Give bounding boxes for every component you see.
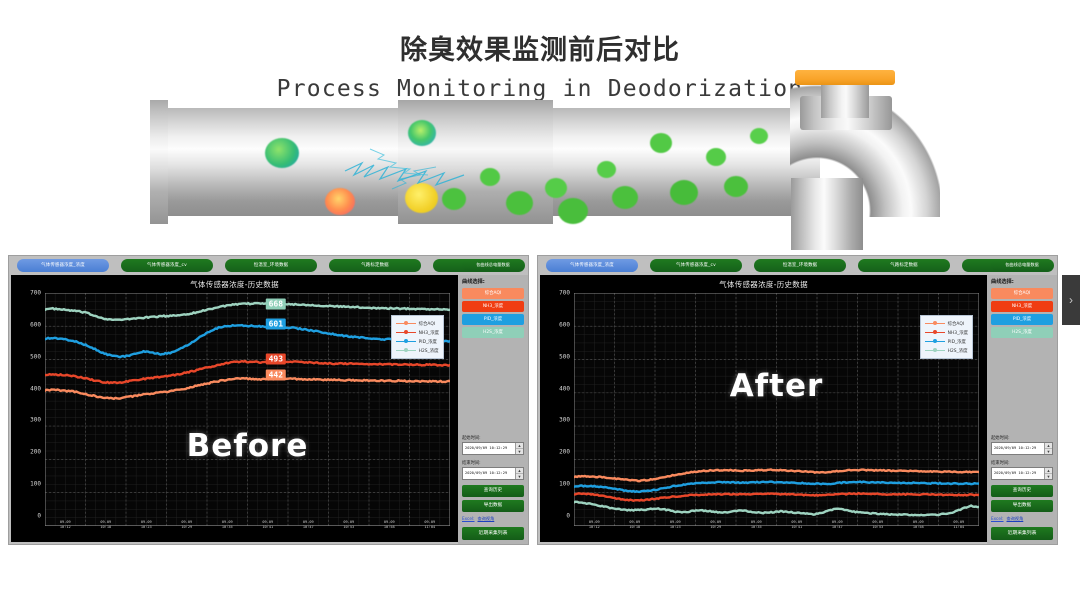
scroll-right-button[interactable]: › xyxy=(1062,275,1080,325)
x-tick: 09-0910:35 xyxy=(751,520,762,530)
chart-before: 气体传感器浓度-历史数据 0100200300400500600700 09-0… xyxy=(11,275,458,542)
series-lines xyxy=(574,293,979,526)
clean-blob xyxy=(506,191,533,215)
excel-link-prefix[interactable]: Excel: xyxy=(991,516,1004,521)
clean-blob xyxy=(545,178,567,198)
start-time-field[interactable]: 2020/09/09 10:12:29 ▲▼ xyxy=(991,442,1053,455)
legend-swatch-pid xyxy=(925,341,945,343)
legend-item[interactable]: NH3_浓度 xyxy=(925,328,968,337)
legend-item[interactable]: PID_浓度 xyxy=(396,337,439,346)
overlay-word-after: After xyxy=(730,368,824,404)
query-history-button[interactable]: 查询历史 xyxy=(462,485,524,497)
x-tick: 09-0910:53 xyxy=(343,520,354,530)
y-tick: 200 xyxy=(559,449,570,456)
clean-blob xyxy=(558,198,588,224)
y-tick: 600 xyxy=(559,321,570,328)
export-data-button[interactable]: 导出数据 xyxy=(462,500,524,512)
curve-toggle-h2s[interactable]: H2S_浓度 xyxy=(462,327,524,338)
legend-item[interactable]: H2S_浓度 xyxy=(396,346,439,355)
tab-calibration[interactable]: 气路标定数据 xyxy=(329,259,421,272)
legend-before: 综合AQI NH3_浓度 PID_浓度 H2S_浓度 xyxy=(391,315,444,359)
y-tick: 700 xyxy=(30,290,41,297)
excel-link-prefix[interactable]: Excel: xyxy=(462,516,475,521)
end-time-label: 结束时间: xyxy=(462,460,524,466)
chart-title: 气体传感器浓度-历史数据 xyxy=(540,279,987,290)
x-tick: 09-0910:23 xyxy=(670,520,681,530)
y-tick: 200 xyxy=(30,449,41,456)
y-tick: 400 xyxy=(30,385,41,392)
end-time-field[interactable]: 2020/09/09 10:12:29 ▲▼ xyxy=(462,467,524,480)
recent-collection-button[interactable]: 近期采集列表 xyxy=(991,527,1053,540)
x-tick: 09-0910:53 xyxy=(872,520,883,530)
chart-title: 气体传感器浓度-历史数据 xyxy=(11,279,458,290)
pipe-flange-left xyxy=(150,100,168,224)
query-history-button[interactable]: 查询历史 xyxy=(991,485,1053,497)
legend-label: 综合AQI xyxy=(419,321,435,327)
end-time-value: 2020/09/09 10:12:29 xyxy=(992,468,1044,479)
curve-toggle-nh3[interactable]: NH3_浓度 xyxy=(462,301,524,312)
export-data-button[interactable]: 导出数据 xyxy=(991,500,1053,512)
clean-blob xyxy=(597,161,616,178)
tab-calibration[interactable]: 气路标定数据 xyxy=(858,259,950,272)
legend-after: 综合AQI NH3_浓度 PID_浓度 H2S_浓度 xyxy=(920,315,973,359)
y-tick: 0 xyxy=(37,513,41,520)
tab-gas-cv[interactable]: 气体传感器浓度_cv xyxy=(121,259,213,272)
y-tick: 100 xyxy=(30,481,41,488)
tabbar-before: 气体传感器浓度_浓度 气体传感器浓度_cv 恒温室_环境数据 气路标定数据 电池… xyxy=(9,256,528,275)
x-tick: 09-0910:41 xyxy=(262,520,273,530)
tabbar-after: 气体传感器浓度_浓度 气体传感器浓度_cv 恒温室_环境数据 气路标定数据 电池… xyxy=(538,256,1057,275)
legend-label: PID_浓度 xyxy=(419,339,437,345)
legend-label: NH3_浓度 xyxy=(948,330,968,336)
x-tick: 09-0910:12 xyxy=(60,520,71,530)
header: 除臭效果监测前后对比 Process Monitoring in Deodori… xyxy=(0,0,1080,245)
plot-area-before: 0100200300400500600700 09-0910:1209-0910… xyxy=(45,293,450,516)
start-time-label: 起始时间: xyxy=(462,435,524,441)
legend-swatch-pid xyxy=(396,341,416,343)
plot-area-after: 0100200300400500600700 09-0910:1209-0910… xyxy=(574,293,979,516)
legend-swatch-aqi xyxy=(925,323,945,325)
legend-label: H2S_浓度 xyxy=(948,348,968,354)
odor-blob xyxy=(265,138,299,168)
excel-link-text[interactable]: 查询视角 xyxy=(478,516,495,521)
excel-link-text[interactable]: 查询视角 xyxy=(1007,516,1024,521)
end-time-label: 结束时间: xyxy=(991,460,1053,466)
x-tick: 09-0910:18 xyxy=(100,520,111,530)
clean-blob xyxy=(650,133,672,153)
tab-chamber-env[interactable]: 恒温室_环境数据 xyxy=(225,259,317,272)
curve-toggle-pid[interactable]: PID_浓度 xyxy=(462,314,524,325)
recent-collection-button[interactable]: 近期采集列表 xyxy=(462,527,524,540)
dashboard-before: 气体传感器浓度_浓度 气体传感器浓度_cv 恒温室_环境数据 气路标定数据 电池… xyxy=(8,255,529,545)
start-time-label: 起始时间: xyxy=(991,435,1053,441)
start-time-value: 2020/09/09 10:12:29 xyxy=(463,443,515,454)
sidebar-after: 各曲线总电量数据 曲线选择: 综合AQI NH3_浓度 PID_浓度 H2S_浓… xyxy=(987,275,1057,544)
excel-link-row[interactable]: Excel:查询视角 xyxy=(462,516,524,522)
value-tag: 442 xyxy=(266,370,286,381)
series-lines xyxy=(45,293,450,526)
legend-item[interactable]: NH3_浓度 xyxy=(396,328,439,337)
curve-toggle-aqi[interactable]: 综合AQI xyxy=(462,288,524,299)
start-time-field[interactable]: 2020/09/09 10:12:29 ▲▼ xyxy=(462,442,524,455)
y-tick: 700 xyxy=(559,290,570,297)
legend-swatch-h2s xyxy=(925,350,945,352)
excel-link-row[interactable]: Excel:查询视角 xyxy=(991,516,1053,522)
x-tick: 09-0910:47 xyxy=(303,520,314,530)
x-tick: 09-0911:04 xyxy=(953,520,964,530)
start-time-stepper[interactable]: ▲▼ xyxy=(515,443,523,454)
legend-swatch-nh3 xyxy=(925,332,945,334)
curve-toggle-aqi[interactable]: 综合AQI xyxy=(991,288,1053,299)
sidebar-before: 各曲线总电量数据 曲线选择: 综合AQI NH3_浓度 PID_浓度 H2S_浓… xyxy=(458,275,528,544)
deodorization-pipe-illustration xyxy=(150,28,950,238)
total-power-button[interactable]: 各曲线总电量数据 xyxy=(991,259,1053,271)
start-time-value: 2020/09/09 10:12:29 xyxy=(992,443,1044,454)
curve-select-label: 曲线选择: xyxy=(462,278,524,285)
legend-swatch-nh3 xyxy=(396,332,416,334)
x-tick: 09-0910:35 xyxy=(222,520,233,530)
x-tick: 09-0910:29 xyxy=(181,520,192,530)
legend-item[interactable]: 综合AQI xyxy=(396,319,439,328)
legend-label: 综合AQI xyxy=(948,321,964,327)
y-tick: 100 xyxy=(559,481,570,488)
x-tick: 09-0910:18 xyxy=(629,520,640,530)
x-tick: 09-0911:04 xyxy=(424,520,435,530)
curve-select-label: 曲线选择: xyxy=(991,278,1053,285)
chart-after: 气体传感器浓度-历史数据 0100200300400500600700 09-0… xyxy=(540,275,987,542)
y-tick: 300 xyxy=(30,417,41,424)
curve-toggle-nh3[interactable]: NH3_浓度 xyxy=(991,301,1053,312)
legend-swatch-aqi xyxy=(396,323,416,325)
clean-blob xyxy=(750,128,768,144)
overlay-word-before: Before xyxy=(187,428,309,464)
x-tick: 09-0910:29 xyxy=(710,520,721,530)
x-tick: 09-0910:12 xyxy=(589,520,600,530)
value-tag: 668 xyxy=(266,299,286,310)
legend-item[interactable]: PID_浓度 xyxy=(925,337,968,346)
clean-blob xyxy=(480,168,500,186)
chevron-right-icon: › xyxy=(1069,294,1073,306)
value-tag: 601 xyxy=(266,318,286,329)
x-tick: 09-0910:58 xyxy=(913,520,924,530)
pipe-elbow-downpipe xyxy=(791,178,863,250)
end-time-stepper[interactable]: ▲▼ xyxy=(1044,468,1052,479)
legend-item[interactable]: H2S_浓度 xyxy=(925,346,968,355)
legend-label: PID_浓度 xyxy=(948,339,966,345)
clean-blob xyxy=(706,148,726,166)
tab-gas-concentration[interactable]: 气体传感器浓度_浓度 xyxy=(17,259,109,272)
total-power-button[interactable]: 各曲线总电量数据 xyxy=(462,259,524,271)
value-tag: 493 xyxy=(266,353,286,364)
x-tick: 09-0910:58 xyxy=(384,520,395,530)
start-time-stepper[interactable]: ▲▼ xyxy=(1044,443,1052,454)
x-tick: 09-0910:47 xyxy=(832,520,843,530)
y-tick: 0 xyxy=(566,513,570,520)
tab-gas-concentration[interactable]: 气体传感器浓度_浓度 xyxy=(546,259,638,272)
y-tick: 500 xyxy=(559,353,570,360)
valve-handle-icon xyxy=(795,70,895,85)
legend-swatch-h2s xyxy=(396,350,416,352)
legend-item[interactable]: 综合AQI xyxy=(925,319,968,328)
x-tick: 09-0910:23 xyxy=(141,520,152,530)
clean-blob xyxy=(612,186,638,209)
tab-chamber-env[interactable]: 恒温室_环境数据 xyxy=(754,259,846,272)
end-time-stepper[interactable]: ▲▼ xyxy=(515,468,523,479)
legend-label: H2S_浓度 xyxy=(419,348,439,354)
y-tick: 500 xyxy=(30,353,41,360)
curve-toggle-h2s[interactable]: H2S_浓度 xyxy=(991,327,1053,338)
dashboard-after: 气体传感器浓度_浓度 气体传感器浓度_cv 恒温室_环境数据 气路标定数据 电池… xyxy=(537,255,1058,545)
end-time-value: 2020/09/09 10:12:29 xyxy=(463,468,515,479)
clean-blob xyxy=(724,176,748,197)
y-tick: 600 xyxy=(30,321,41,328)
clean-blob xyxy=(670,180,698,205)
y-tick: 400 xyxy=(559,385,570,392)
x-tick: 09-0910:41 xyxy=(791,520,802,530)
legend-label: NH3_浓度 xyxy=(419,330,439,336)
tab-gas-cv[interactable]: 气体传感器浓度_cv xyxy=(650,259,742,272)
end-time-field[interactable]: 2020/09/09 10:12:29 ▲▼ xyxy=(991,467,1053,480)
spray-jet-icon xyxy=(340,123,470,203)
y-tick: 300 xyxy=(559,417,570,424)
curve-toggle-pid[interactable]: PID_浓度 xyxy=(991,314,1053,325)
